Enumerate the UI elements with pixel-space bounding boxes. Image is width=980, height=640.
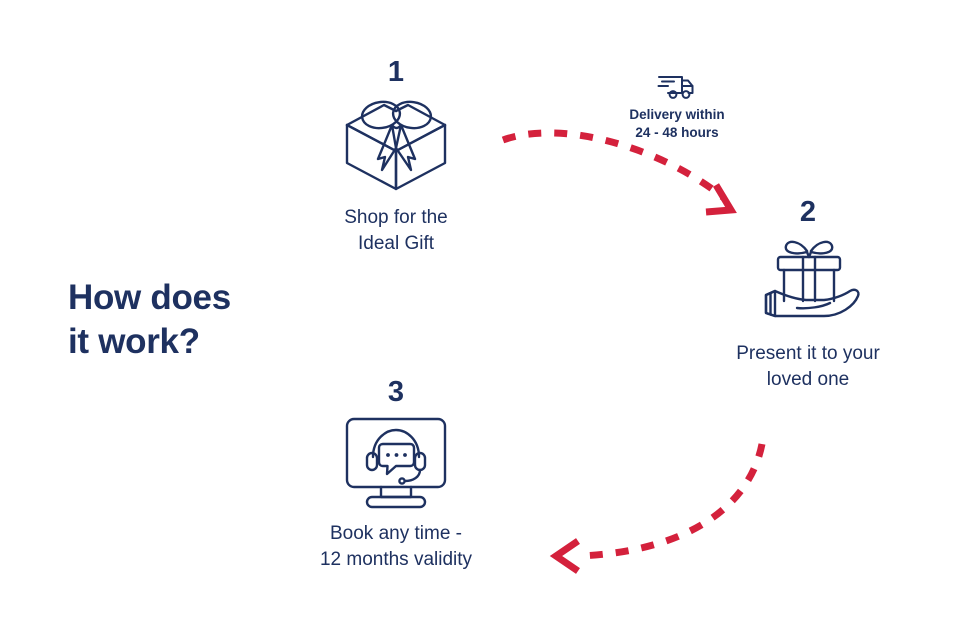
step-3: 3 bbox=[296, 378, 496, 573]
delivery-note-text: Delivery within 24 - 48 hours bbox=[597, 106, 757, 142]
gift-box-icon bbox=[296, 93, 496, 193]
step-1-label: Shop for the Ideal Gift bbox=[296, 205, 496, 257]
page-title: How does it work? bbox=[68, 276, 368, 365]
arrow-step1-to-step2 bbox=[503, 133, 731, 212]
step-1-number: 1 bbox=[296, 58, 496, 87]
infographic-canvas: How does it work? 1 bbox=[0, 0, 980, 640]
delivery-truck-icon bbox=[597, 72, 757, 102]
monitor-support-headset-icon bbox=[296, 413, 496, 509]
step-2: 2 bbox=[708, 198, 908, 393]
step-3-number: 3 bbox=[296, 378, 496, 407]
step-2-label: Present it to your loved one bbox=[708, 341, 908, 393]
step-2-number: 2 bbox=[708, 198, 908, 227]
hand-holding-gift-icon bbox=[708, 233, 908, 329]
step-3-label: Book any time - 12 months validity bbox=[296, 521, 496, 573]
delivery-note: Delivery within 24 - 48 hours bbox=[597, 72, 757, 142]
arrow-step2-to-step3 bbox=[556, 444, 762, 571]
step-1: 1 bbox=[296, 58, 496, 257]
